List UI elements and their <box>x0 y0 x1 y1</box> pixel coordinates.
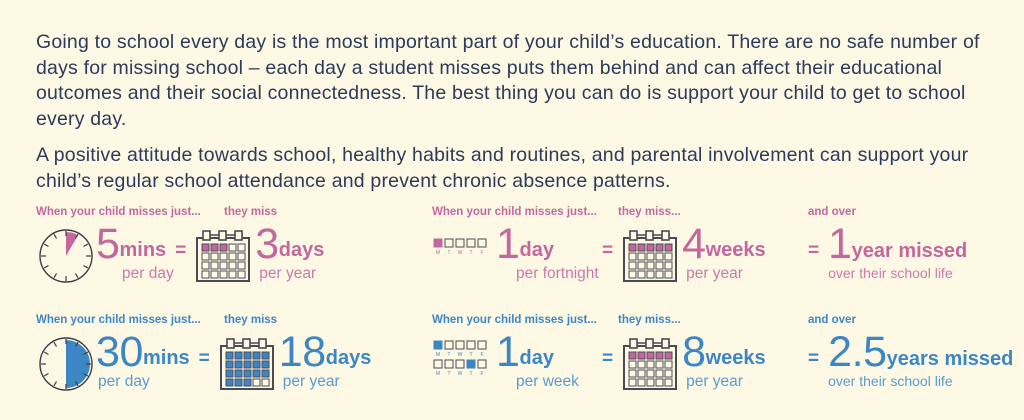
row2b-weeks-value: 8 <box>682 332 706 372</box>
svg-text:T: T <box>469 250 472 256</box>
row1-block-total: and over = 1 year missed over their scho… <box>808 198 1024 306</box>
svg-text:F: F <box>480 250 483 256</box>
row2c-total-value: 2.5 <box>828 332 887 372</box>
row2b-day-sub: per week <box>516 373 579 391</box>
row1c-header: and over <box>808 206 856 218</box>
svg-text:F: F <box>480 371 483 377</box>
svg-text:T: T <box>447 352 450 358</box>
row1-header-theymiss: they miss <box>224 206 277 218</box>
row1b-day-value: 1 <box>496 224 520 264</box>
row1c-total-sub: over their school life <box>828 265 953 281</box>
row1-minutes-value: 5 <box>96 224 120 264</box>
row1c-total-measure: 1 year missed over their school life <box>828 224 967 264</box>
calendar-icon <box>195 229 251 283</box>
row2-header-theymiss: they miss <box>224 314 277 326</box>
row1-block-minutes: When your child misses just... they miss <box>36 198 424 306</box>
row1-minutes-unit: mins <box>120 240 167 260</box>
calendar-icon <box>622 337 678 391</box>
row1b-header-left: When your child misses just... <box>432 206 597 218</box>
svg-text:F: F <box>480 352 483 358</box>
comparison-row-1: When your child misses just... they miss <box>0 198 1024 306</box>
svg-text:T: T <box>447 250 450 256</box>
row2c-total-sub: over their school life <box>828 373 953 389</box>
row2c-total-measure: 2.5 years missed over their school life <box>828 332 1013 372</box>
weekday-strip-icon: MTW TF MTW TF <box>432 340 490 380</box>
row1-days-unit: days <box>279 240 325 260</box>
row1b-day-unit: day <box>520 240 554 260</box>
row1-days-measure: 3 days per year <box>255 224 324 264</box>
row1b-header-theymiss: they miss... <box>618 206 681 218</box>
svg-text:M: M <box>436 250 440 256</box>
row2b-day-unit: day <box>520 348 554 368</box>
svg-text:M: M <box>436 371 440 377</box>
row2-block-week: When your child misses just... they miss… <box>432 306 802 414</box>
svg-text:W: W <box>458 352 463 358</box>
svg-text:M: M <box>436 352 440 358</box>
svg-text:T: T <box>447 371 450 377</box>
comparison-rows: When your child misses just... they miss <box>0 198 1024 414</box>
row2-days-measure: 18 days per year <box>279 332 372 372</box>
row2-days-sub: per year <box>283 373 340 391</box>
intro-paragraph-1: Going to school every day is the most im… <box>36 30 988 132</box>
svg-text:W: W <box>458 371 463 377</box>
comparison-row-2: When your child misses just... they miss <box>0 306 1024 414</box>
row2-minutes-value: 30 <box>96 332 143 372</box>
svg-text:T: T <box>469 352 472 358</box>
row2b-day-value: 1 <box>496 332 520 372</box>
row2-minutes-measure: 30 mins per day <box>96 332 190 372</box>
clock-icon <box>36 334 96 394</box>
row2-equals-1: = <box>199 348 210 370</box>
row2b-day-measure: 1 day per week <box>496 332 554 372</box>
row1-days-value: 3 <box>255 224 279 264</box>
row2-minutes-unit: mins <box>143 348 190 368</box>
row2c-total-unit: years missed <box>887 349 1014 369</box>
row1b-weeks-value: 4 <box>682 224 706 264</box>
row2-minutes-sub: per day <box>98 373 150 391</box>
row1-minutes-measure: 5 mins per day <box>96 224 166 264</box>
row2c-header: and over <box>808 314 856 326</box>
row1b-weeks-unit: weeks <box>706 240 766 260</box>
row2b-header-left: When your child misses just... <box>432 314 597 326</box>
row1c-equals: = <box>808 240 819 262</box>
clock-icon <box>36 226 96 286</box>
row1b-day-measure: 1 day per fortnight <box>496 224 554 264</box>
row1c-total-value: 1 <box>828 224 852 264</box>
row2b-header-theymiss: they miss... <box>618 314 681 326</box>
weekday-strip-icon: MTW TF <box>432 238 490 260</box>
row1-equals-1: = <box>175 240 186 262</box>
svg-text:W: W <box>458 250 463 256</box>
row1b-day-sub: per fortnight <box>516 265 599 283</box>
row2-days-unit: days <box>326 348 372 368</box>
row1b-equals: = <box>602 240 613 262</box>
intro-text: Going to school every day is the most im… <box>36 30 988 194</box>
row2-block-minutes: When your child misses just... they miss <box>36 306 424 414</box>
row2b-weeks-measure: 8 weeks per year <box>682 332 766 372</box>
row2b-weeks-unit: weeks <box>706 348 766 368</box>
row2-days-value: 18 <box>279 332 326 372</box>
row1b-weeks-sub: per year <box>686 265 743 283</box>
row1-days-sub: per year <box>259 265 316 283</box>
row2-block-total: and over = 2.5 years missed over their s… <box>808 306 1024 414</box>
row2b-equals: = <box>602 348 613 370</box>
svg-text:T: T <box>469 371 472 377</box>
row1b-weeks-measure: 4 weeks per year <box>682 224 766 264</box>
attendance-infographic-page: Going to school every day is the most im… <box>0 0 1024 420</box>
row1-block-fortnight: When your child misses just... they miss… <box>432 198 802 306</box>
calendar-icon <box>622 229 678 283</box>
row1-minutes-sub: per day <box>122 265 174 283</box>
row1-header-left: When your child misses just... <box>36 206 201 218</box>
row2c-equals: = <box>808 348 819 370</box>
intro-paragraph-2: A positive attitude towards school, heal… <box>36 143 988 194</box>
row2-header-left: When your child misses just... <box>36 314 201 326</box>
row1c-total-unit: year missed <box>852 241 968 261</box>
row2b-weeks-sub: per year <box>686 373 743 391</box>
calendar-icon <box>219 337 275 391</box>
